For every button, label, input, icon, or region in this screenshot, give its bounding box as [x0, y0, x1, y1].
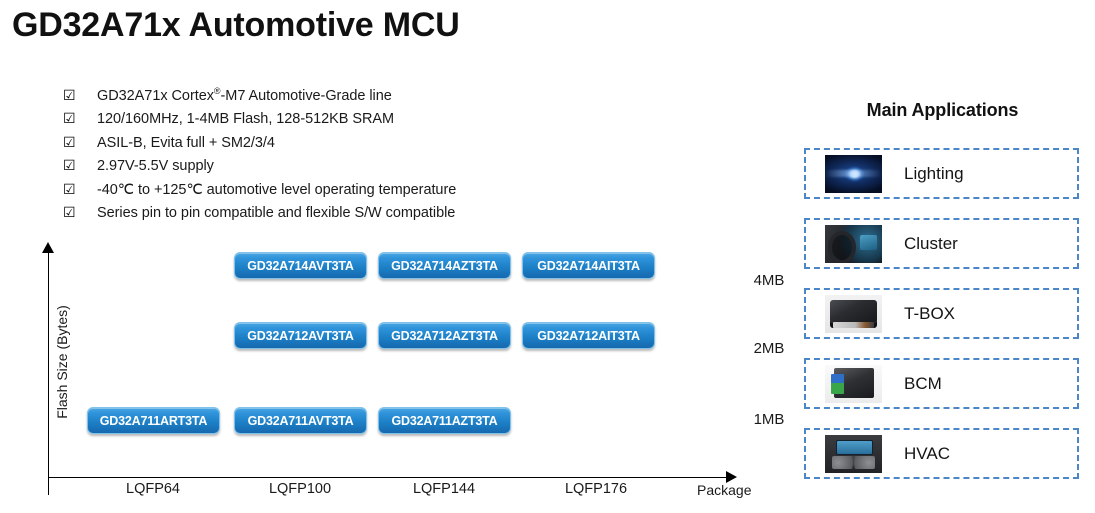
y-axis-title: Flash Size (Bytes) [54, 287, 70, 437]
y-axis-arrow-icon [42, 242, 54, 253]
application-label: Lighting [904, 164, 964, 184]
telematics-box-photo-icon [825, 295, 882, 333]
feature-item-label: GD32A71x Cortex®-M7 Automotive-Grade lin… [97, 88, 392, 104]
part-chip[interactable]: GD32A714AIT3TA [522, 252, 655, 279]
part-chip[interactable]: GD32A714AZT3TA [378, 252, 511, 279]
part-chip[interactable]: GD32A712AIT3TA [522, 322, 655, 349]
x-tick-label-lqfp144: LQFP144 [384, 481, 504, 497]
car-cockpit-photo-icon [825, 225, 882, 263]
feature-item: ☑ 2.97V-5.5V supply [63, 158, 623, 181]
feature-item: ☑ 120/160MHz, 1-4MB Flash, 128-512KB SRA… [63, 111, 623, 134]
x-axis-title: Package [697, 482, 751, 498]
climate-control-panel-photo-icon [825, 435, 882, 473]
application-card-lighting[interactable]: Lighting [804, 148, 1079, 199]
feature-text-tail: -M7 Automotive-Grade line [221, 88, 392, 104]
y-axis-line [48, 250, 49, 495]
feature-item-label: ASIL-B, Evita full + SM2/3/4 [97, 135, 275, 151]
application-card-hvac[interactable]: HVAC [804, 428, 1079, 479]
checkbox-checked-icon: ☑ [63, 182, 97, 196]
checkbox-checked-icon: ☑ [63, 111, 97, 125]
part-chip[interactable]: GD32A712AVT3TA [234, 322, 367, 349]
x-tick-label-lqfp176: LQFP176 [536, 481, 656, 497]
feature-item: ☑ ASIL-B, Evita full + SM2/3/4 [63, 135, 623, 158]
application-card-tbox[interactable]: T-BOX [804, 288, 1079, 339]
checkbox-checked-icon: ☑ [63, 135, 97, 149]
application-label: T-BOX [904, 304, 955, 324]
x-axis-line [48, 477, 728, 478]
feature-item: ☑ -40℃ to +125℃ automotive level operati… [63, 182, 623, 205]
checkbox-checked-icon: ☑ [63, 158, 97, 172]
main-applications-panel: Main Applications Lighting Cluster T-BOX… [800, 100, 1085, 121]
application-card-cluster[interactable]: Cluster [804, 218, 1079, 269]
body-control-module-photo-icon [825, 365, 882, 403]
checkbox-checked-icon: ☑ [63, 88, 97, 102]
part-chip[interactable]: GD32A711AVT3TA [234, 407, 367, 434]
x-tick-label-lqfp64: LQFP64 [93, 481, 213, 497]
page-title: GD32A71x Automotive MCU [12, 6, 460, 45]
application-card-bcm[interactable]: BCM [804, 358, 1079, 409]
feature-item-label: 2.97V-5.5V supply [97, 158, 214, 174]
feature-item: ☑ GD32A71x Cortex®-M7 Automotive-Grade l… [63, 88, 623, 111]
application-label: HVAC [904, 444, 950, 464]
checkbox-checked-icon: ☑ [63, 205, 97, 219]
y-tick-label-4mb: 4MB [748, 272, 790, 289]
feature-item-label: 120/160MHz, 1-4MB Flash, 128-512KB SRAM [97, 111, 394, 127]
part-chip[interactable]: GD32A711ART3TA [87, 407, 220, 434]
y-tick-label-1mb: 1MB [748, 411, 790, 428]
application-label: Cluster [904, 234, 958, 254]
product-portfolio-chart: Flash Size (Bytes) Package 4MB 2MB 1MB L… [0, 232, 790, 513]
part-chip[interactable]: GD32A711AZT3TA [378, 407, 511, 434]
application-label: BCM [904, 374, 942, 394]
part-chip[interactable]: GD32A712AZT3TA [378, 322, 511, 349]
feature-item: ☑ Series pin to pin compatible and flexi… [63, 205, 623, 228]
registered-trademark-icon: ® [214, 86, 221, 96]
main-applications-title: Main Applications [800, 100, 1085, 121]
feature-text-main: GD32A71x Cortex [97, 88, 214, 104]
feature-item-label: -40℃ to +125℃ automotive level operating… [97, 182, 456, 198]
x-tick-label-lqfp100: LQFP100 [240, 481, 360, 497]
feature-item-label: Series pin to pin compatible and flexibl… [97, 205, 455, 221]
y-tick-label-2mb: 2MB [748, 340, 790, 357]
feature-list: ☑ GD32A71x Cortex®-M7 Automotive-Grade l… [63, 88, 623, 228]
part-chip[interactable]: GD32A714AVT3TA [234, 252, 367, 279]
headlight-photo-icon [825, 155, 882, 193]
